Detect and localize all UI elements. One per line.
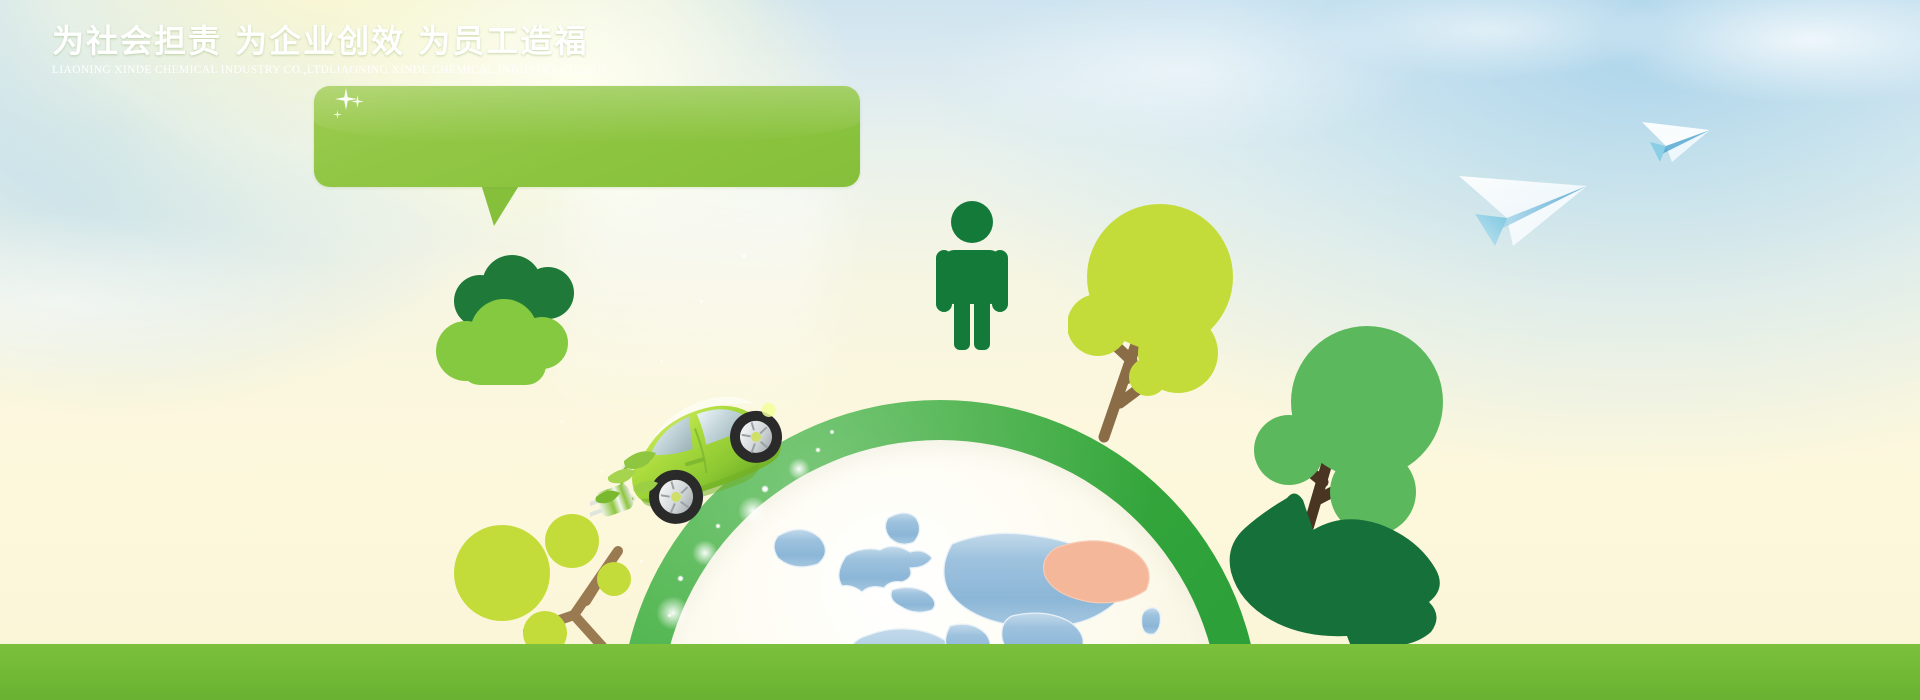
sparkle-icon [678, 576, 683, 581]
sparkle-icon [830, 430, 834, 434]
ground-strip [0, 644, 1920, 700]
sparkle-icon [700, 300, 703, 303]
hero-banner: 为社会担责 为企业创效 为员工造福 LIAONING XINDE CHEMICA… [0, 0, 1920, 700]
headline-bubble [314, 86, 860, 187]
person-icon [930, 200, 1014, 355]
sparkle-icon [742, 254, 746, 258]
sparkle-icon [560, 420, 563, 423]
sparkle-icon [668, 614, 671, 617]
sparkle-icon [600, 470, 603, 473]
banner-subtitle: LIAONING XINDE CHEMICAL INDUSTRY CO.,LTD… [52, 64, 606, 76]
sparkle-icon [640, 560, 643, 563]
sparkle-icon [656, 596, 690, 630]
electric-car-icon [590, 375, 820, 555]
paper-plane-icon [1455, 150, 1605, 265]
sparkle-icon [780, 520, 784, 524]
bubble-sheen [314, 86, 860, 143]
sparkle-icon [660, 360, 663, 363]
banner-headline: 为社会担责 为企业创效 为员工造福 [52, 16, 588, 62]
paper-plane-icon [1640, 112, 1720, 179]
speech-bubble-tail [481, 184, 520, 226]
